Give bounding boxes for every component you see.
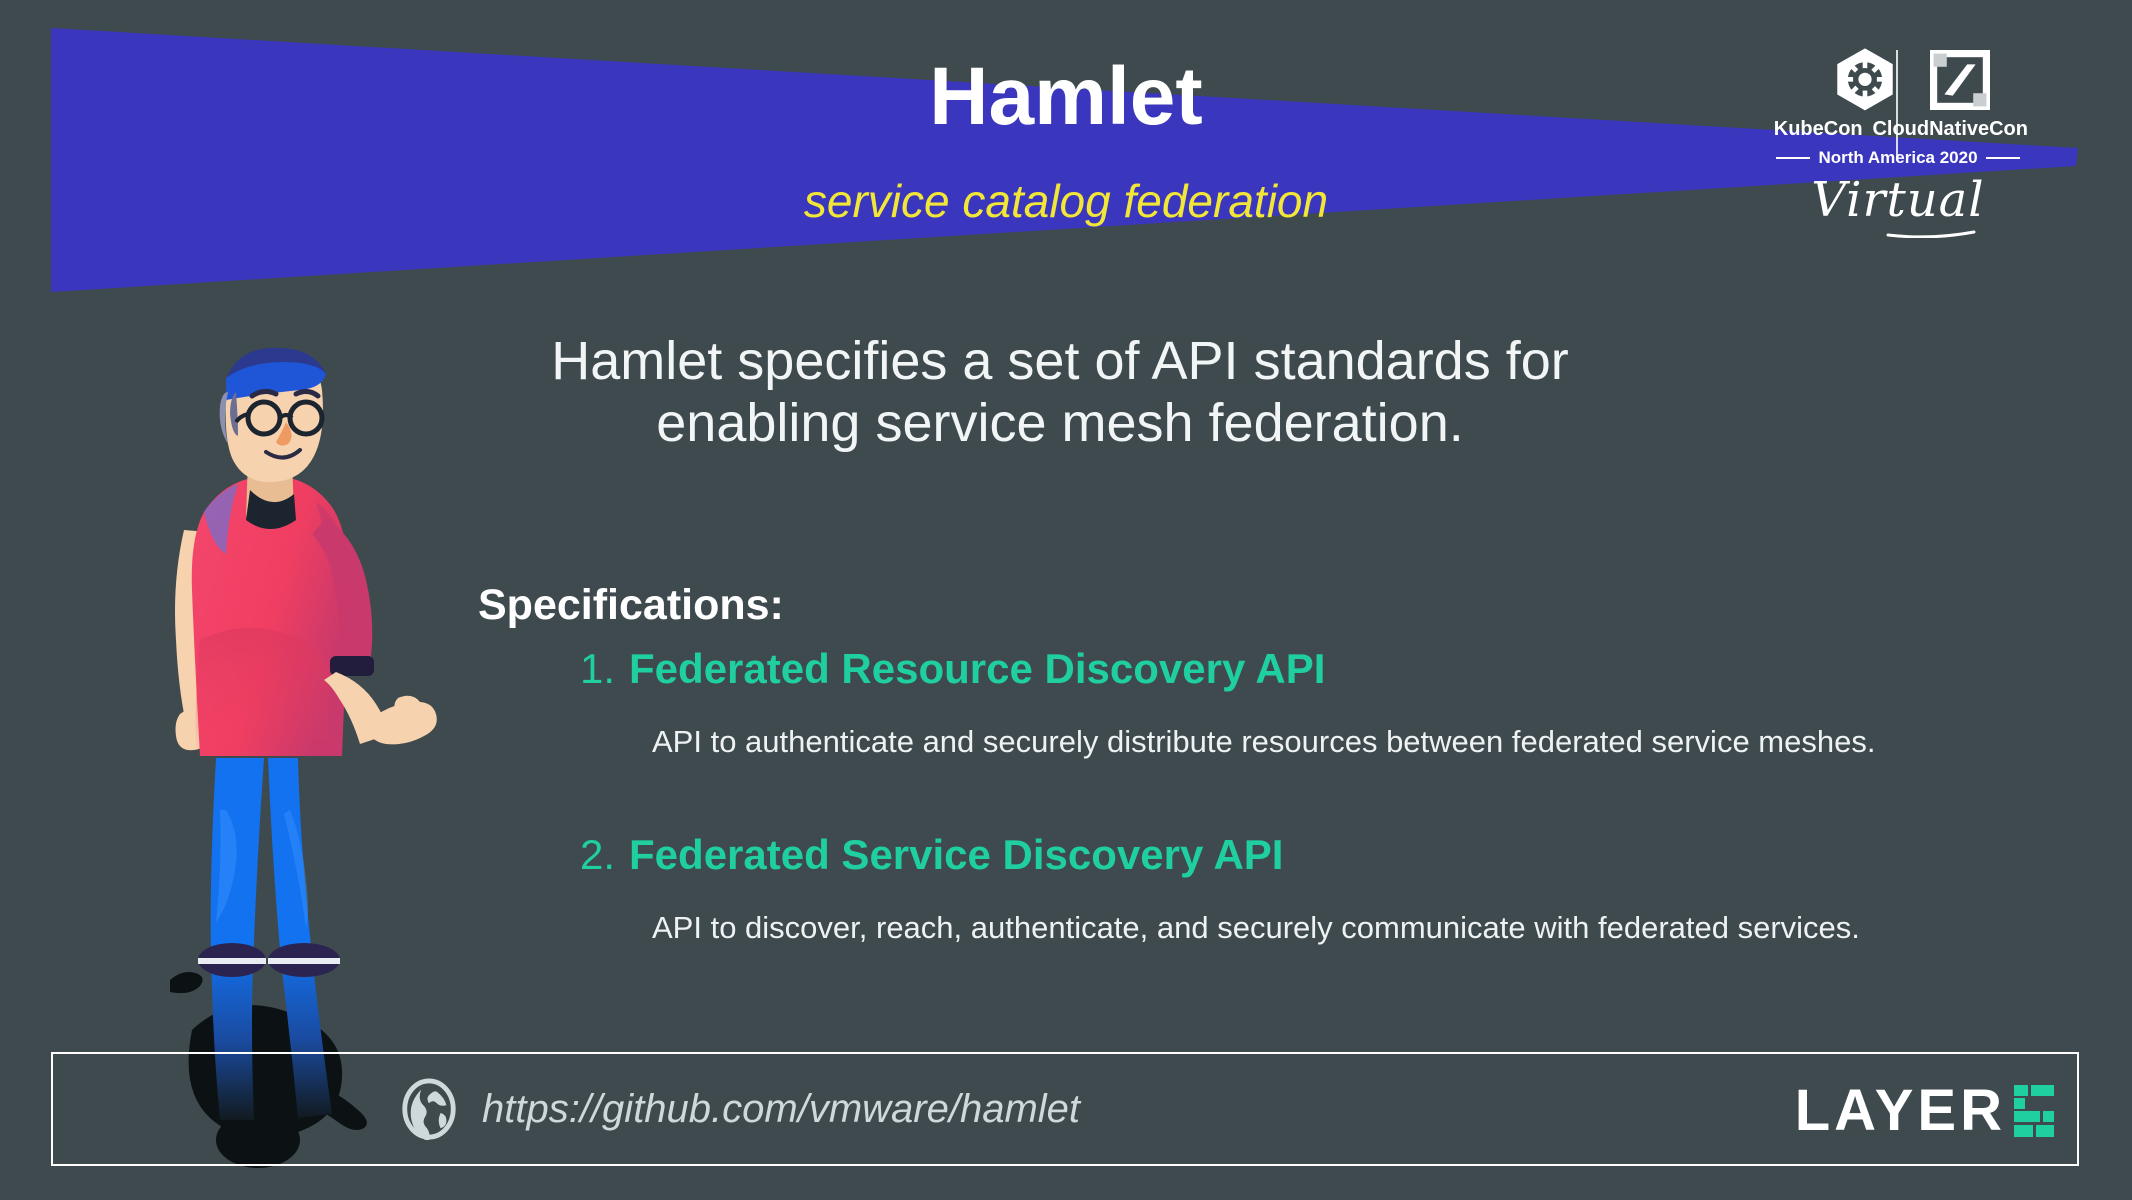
specification-description: API to authenticate and securely distrib… — [652, 723, 2060, 760]
layer5-digit-five-icon — [2012, 1085, 2056, 1137]
specification-description: API to discover, reach, authenticate, an… — [652, 909, 2060, 946]
conference-logo-names: KubeCon CloudNativeCon — [1768, 118, 2028, 141]
specification-number: 1. — [580, 648, 615, 690]
character-head — [220, 348, 326, 482]
conference-logo-marks — [1768, 44, 2028, 120]
logo-divider — [1896, 50, 1898, 158]
kubecon-label: KubeCon — [1768, 118, 1868, 141]
lead-line-1: Hamlet specifies a set of API standards … — [420, 330, 1700, 392]
specification-title-row: 2. Federated Service Discovery API — [580, 834, 2060, 876]
conference-region-row: North America 2020 — [1768, 148, 2028, 168]
layer5-logo: LAYER — [1795, 1082, 2056, 1140]
layer5-wordmark: LAYER — [1795, 1082, 2006, 1140]
region-rule-right — [1986, 157, 2020, 159]
specification-title: Federated Resource Discovery API — [629, 648, 1325, 690]
virtual-underline-swash — [1886, 228, 1976, 238]
globe-icon — [398, 1078, 460, 1140]
character-shoes — [198, 943, 340, 977]
lead-paragraph: Hamlet specifies a set of API standards … — [420, 330, 1700, 454]
region-rule-left — [1776, 157, 1810, 159]
footer-url-group[interactable]: https://github.com/vmware/hamlet — [398, 1078, 1080, 1140]
specification-item-1: 1. Federated Resource Discovery API API … — [580, 648, 2060, 760]
conference-logo: KubeCon CloudNativeCon North America 202… — [1768, 44, 2028, 234]
specification-number: 2. — [580, 834, 615, 876]
specification-title: Federated Service Discovery API — [629, 834, 1283, 876]
lead-line-2: enabling service mesh federation. — [420, 392, 1700, 454]
cloudnativecon-square-icon — [1930, 50, 1990, 110]
cloudnativecon-label: CloudNativeCon — [1868, 118, 2028, 141]
standing-person-waving-illustration — [140, 340, 460, 1170]
slide-root: Hamlet service catalog federation — [0, 0, 2132, 1200]
conference-region-label: North America 2020 — [1818, 148, 1977, 168]
specifications-heading: Specifications: — [478, 584, 784, 627]
specification-title-row: 1. Federated Resource Discovery API — [580, 648, 2060, 690]
kubernetes-helm-wheel-icon — [1832, 46, 1898, 114]
conference-virtual-label: Virtual — [1768, 172, 2028, 228]
specification-item-2: 2. Federated Service Discovery API API t… — [580, 834, 2060, 946]
footer-url-text[interactable]: https://github.com/vmware/hamlet — [482, 1087, 1080, 1132]
